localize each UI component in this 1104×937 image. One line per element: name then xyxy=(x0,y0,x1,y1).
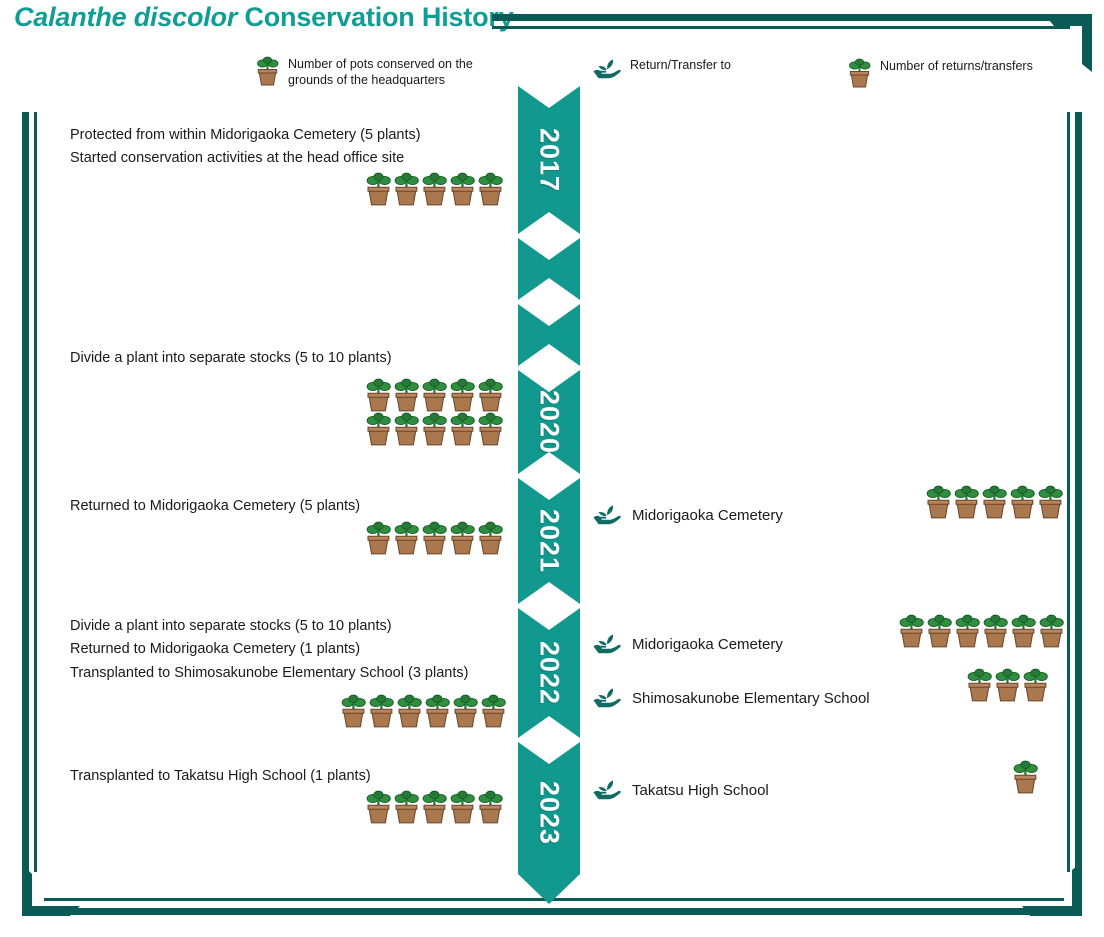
transfer-destination-2022-2: Shimosakunobe Elementary School xyxy=(592,686,870,710)
potted-plant-icon xyxy=(477,521,505,555)
potted-plant-icon xyxy=(393,378,421,412)
page-title-rest: Conservation History xyxy=(237,2,513,32)
potted-plant-icon xyxy=(994,668,1022,702)
transfer-destination-label: Takatsu High School xyxy=(632,782,769,799)
potted-plant-icon xyxy=(396,694,424,728)
potted-plant-icon xyxy=(421,412,449,446)
timeline-segment-2019 xyxy=(518,304,580,366)
transfer-destination-2021-1: Midorigaoka Cemetery xyxy=(592,503,783,527)
timeline-segment-2020: 2020 xyxy=(518,370,580,474)
frame-top-line-outer xyxy=(492,14,1070,21)
potted-plant-icon xyxy=(1012,760,1040,794)
potted-plant-icon xyxy=(256,56,280,86)
conserved-pots-2023 xyxy=(365,790,505,824)
potted-plant-icon xyxy=(449,172,477,206)
conserved-pots-2020 xyxy=(365,378,505,446)
potted-plant-icon xyxy=(340,694,368,728)
transfer-destination-2022-1: Midorigaoka Cemetery xyxy=(592,632,783,656)
legend-item-return-transfer: Return/Transfer to xyxy=(592,57,731,81)
potted-plant-icon xyxy=(898,614,926,648)
timeline-segment-2022: 2022 xyxy=(518,608,580,738)
potted-plant-icon xyxy=(365,378,393,412)
transfer-pots-2023-1 xyxy=(1012,760,1040,794)
potted-plant-icon xyxy=(1022,668,1050,702)
transfer-destination-2023-1: Takatsu High School xyxy=(592,778,769,802)
infographic-canvas: Calanthe discolor Conservation History xyxy=(0,0,1104,937)
page-title-scientific-name: Calanthe discolor xyxy=(14,2,237,32)
potted-plant-icon xyxy=(848,58,872,88)
event-text-2022: Divide a plant into separate stocks (5 t… xyxy=(70,615,468,685)
pot-row xyxy=(365,521,505,555)
potted-plant-icon xyxy=(421,521,449,555)
potted-plant-icon xyxy=(477,412,505,446)
timeline-segment-2021: 2021 xyxy=(518,478,580,604)
potted-plant-icon xyxy=(477,378,505,412)
potted-plant-icon xyxy=(424,694,452,728)
timeline-year-2021: 2021 xyxy=(534,509,565,573)
pot-row xyxy=(365,172,505,206)
transfer-destination-label: Midorigaoka Cemetery xyxy=(632,507,783,524)
timeline-year-2017: 2017 xyxy=(534,128,565,192)
potted-plant-icon xyxy=(925,485,953,519)
timeline-year-2022: 2022 xyxy=(534,641,565,705)
transfer-pots-2022-1 xyxy=(898,614,1066,648)
conserved-pots-2021 xyxy=(365,521,505,555)
event-text-2017: Protected from within Midorigaoka Cemete… xyxy=(70,124,421,171)
timeline-year-2020: 2020 xyxy=(534,390,565,454)
timeline-arrow: 2017 2020 2021 2022 2023 xyxy=(518,86,580,904)
potted-plant-icon xyxy=(981,485,1009,519)
potted-plant-icon xyxy=(421,172,449,206)
potted-plant-icon xyxy=(477,790,505,824)
event-text-2023: Transplanted to Takatsu High School (1 p… xyxy=(70,765,371,788)
potted-plant-icon xyxy=(452,694,480,728)
potted-plant-icon xyxy=(393,521,421,555)
hand-with-sprout-icon xyxy=(592,57,622,81)
frame-left-line-inner xyxy=(34,112,37,872)
potted-plant-icon xyxy=(449,790,477,824)
page-title: Calanthe discolor Conservation History xyxy=(14,2,514,33)
potted-plant-icon xyxy=(449,412,477,446)
legend-item-returns-count: Number of returns/transfers xyxy=(848,58,1033,88)
pot-row xyxy=(365,412,505,446)
legend-item-pots-conserved: Number of pots conserved on the grounds … xyxy=(256,56,473,88)
legend-label-pots-conserved: Number of pots conserved on the grounds … xyxy=(288,56,473,88)
corner-bracket-bottom-right xyxy=(1022,862,1082,916)
pot-row xyxy=(365,378,505,412)
potted-plant-icon xyxy=(393,412,421,446)
hand-with-sprout-icon xyxy=(592,686,622,710)
potted-plant-icon xyxy=(953,485,981,519)
timeline-year-2023: 2023 xyxy=(534,781,565,845)
potted-plant-icon xyxy=(480,694,508,728)
hand-with-sprout-icon xyxy=(592,503,622,527)
legend-label-returns-count: Number of returns/transfers xyxy=(880,58,1033,75)
timeline-segment-2023: 2023 xyxy=(518,742,580,904)
potted-plant-icon xyxy=(393,172,421,206)
event-text-2020: Divide a plant into separate stocks (5 t… xyxy=(70,347,392,370)
transfer-destination-label: Midorigaoka Cemetery xyxy=(632,636,783,653)
hand-with-sprout-icon xyxy=(592,778,622,802)
potted-plant-icon xyxy=(966,668,994,702)
potted-plant-icon xyxy=(477,172,505,206)
conserved-pots-2017 xyxy=(365,172,505,206)
timeline-segment-2018 xyxy=(518,238,580,300)
transfer-destination-label: Shimosakunobe Elementary School xyxy=(632,690,870,707)
potted-plant-icon xyxy=(365,790,393,824)
potted-plant-icon xyxy=(421,378,449,412)
potted-plant-icon xyxy=(1009,485,1037,519)
frame-left-line-outer xyxy=(22,112,29,872)
potted-plant-icon xyxy=(926,614,954,648)
potted-plant-icon xyxy=(365,521,393,555)
potted-plant-icon xyxy=(365,172,393,206)
frame-bottom-line-outer xyxy=(44,908,1064,915)
potted-plant-icon xyxy=(421,790,449,824)
potted-plant-icon xyxy=(954,614,982,648)
frame-right-line-outer xyxy=(1075,112,1082,872)
corner-bracket-top-right xyxy=(1044,14,1092,72)
frame-right-line-inner xyxy=(1067,112,1070,872)
event-text-2021: Returned to Midorigaoka Cemetery (5 plan… xyxy=(70,495,360,518)
corner-bracket-bottom-left xyxy=(22,864,80,916)
conserved-pots-2022 xyxy=(340,694,508,728)
transfer-pots-2022-2 xyxy=(966,668,1050,702)
potted-plant-icon xyxy=(449,378,477,412)
pot-row xyxy=(365,790,505,824)
potted-plant-icon xyxy=(365,412,393,446)
legend-label-return-transfer: Return/Transfer to xyxy=(630,57,731,74)
frame-top-line-inner xyxy=(492,26,1070,29)
potted-plant-icon xyxy=(449,521,477,555)
potted-plant-icon xyxy=(368,694,396,728)
potted-plant-icon xyxy=(1038,614,1066,648)
potted-plant-icon xyxy=(1037,485,1065,519)
potted-plant-icon xyxy=(393,790,421,824)
potted-plant-icon xyxy=(1010,614,1038,648)
hand-with-sprout-icon xyxy=(592,632,622,656)
potted-plant-icon xyxy=(982,614,1010,648)
pot-row xyxy=(340,694,508,728)
transfer-pots-2021-1 xyxy=(925,485,1065,519)
timeline-segment-2017: 2017 xyxy=(518,86,580,234)
